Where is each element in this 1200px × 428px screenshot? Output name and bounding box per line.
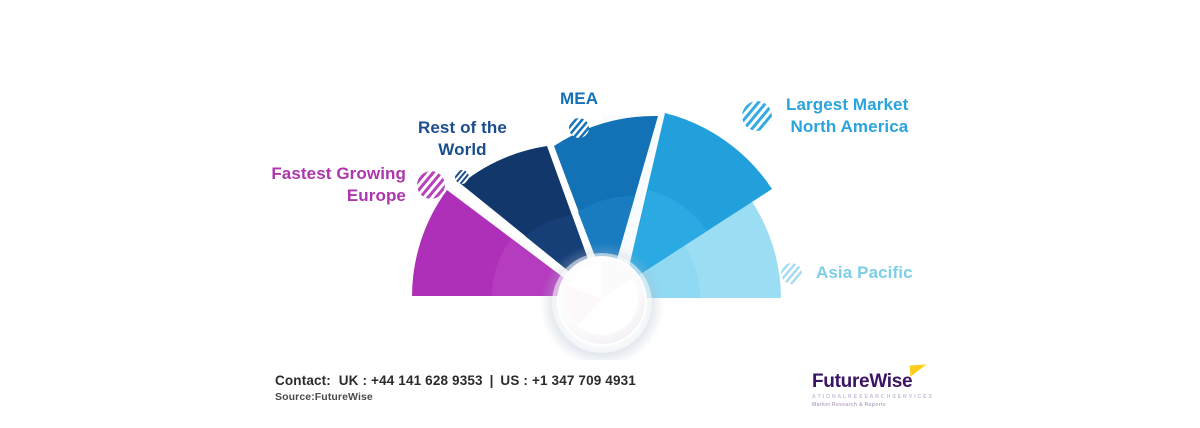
futurewise-logo[interactable]: FutureWise A T I O N A L R E S E A R C H… [812,372,932,410]
regional-pie-chart: Fastest Growing Europe Rest of the World… [0,0,1200,360]
contact-line: Contact: UK : +44 141 628 9353 | US : +1… [275,373,636,388]
label-north-america-line2: North America [786,116,908,138]
logo-word-future: Future [812,371,869,392]
logo-word-wise: Wise [869,371,912,392]
label-rest-of-world-line2: World [418,139,507,161]
logo-tagline-line1: A T I O N A L R E S E A R C H S E R V I … [812,394,932,402]
label-europe-line2: Europe [254,185,406,207]
label-europe-text: Fastest Growing Europe [254,163,406,208]
infographic-canvas: Fastest Growing Europe Rest of the World… [0,0,1200,428]
striped-circle-marker-asia-pacific [781,263,802,284]
label-mea-text: MEA [560,88,598,110]
striped-circle-marker-north-america [742,101,772,131]
label-asia-pacific[interactable]: Asia Pacific [781,262,913,284]
logo-flag-icon [910,364,928,376]
label-europe-line1: Fastest Growing [254,163,406,185]
source-line: Source:FutureWise [275,391,636,403]
striped-circle-marker-rest-of-world [455,170,469,184]
uk-phone[interactable]: +44 141 628 9353 [371,373,483,388]
pie-chart-svg [0,0,1200,360]
label-mea-line1: MEA [560,88,598,110]
label-rest-of-world-line1: Rest of the [418,117,507,139]
label-north-america-text: Largest Market North America [786,94,908,139]
uk-label: UK : [339,373,367,388]
label-europe[interactable]: Fastest Growing Europe [254,163,445,208]
label-north-america-line1: Largest Market [786,94,908,116]
label-asia-pacific-line1: Asia Pacific [816,262,913,284]
label-north-america[interactable]: Largest Market North America [742,94,908,139]
contact-separator: | [487,373,497,388]
label-rest-of-world-text: Rest of the World [418,117,507,162]
logo-tagline: A T I O N A L R E S E A R C H S E R V I … [812,394,932,410]
logo-wordmark: FutureWise [812,372,912,391]
us-label: US : [500,373,528,388]
label-rest-of-world[interactable]: Rest of the World [418,117,507,184]
label-asia-pacific-text: Asia Pacific [816,262,913,284]
striped-circle-marker-mea [569,118,589,138]
contact-block: Contact: UK : +44 141 628 9353 | US : +1… [275,373,636,403]
label-mea[interactable]: MEA [560,88,598,138]
logo-tagline-line2: Market Research & Reports [812,402,932,410]
contact-label: Contact: [275,373,331,388]
us-phone[interactable]: +1 347 709 4931 [532,373,636,388]
footer: Contact: UK : +44 141 628 9353 | US : +1… [0,366,1200,428]
